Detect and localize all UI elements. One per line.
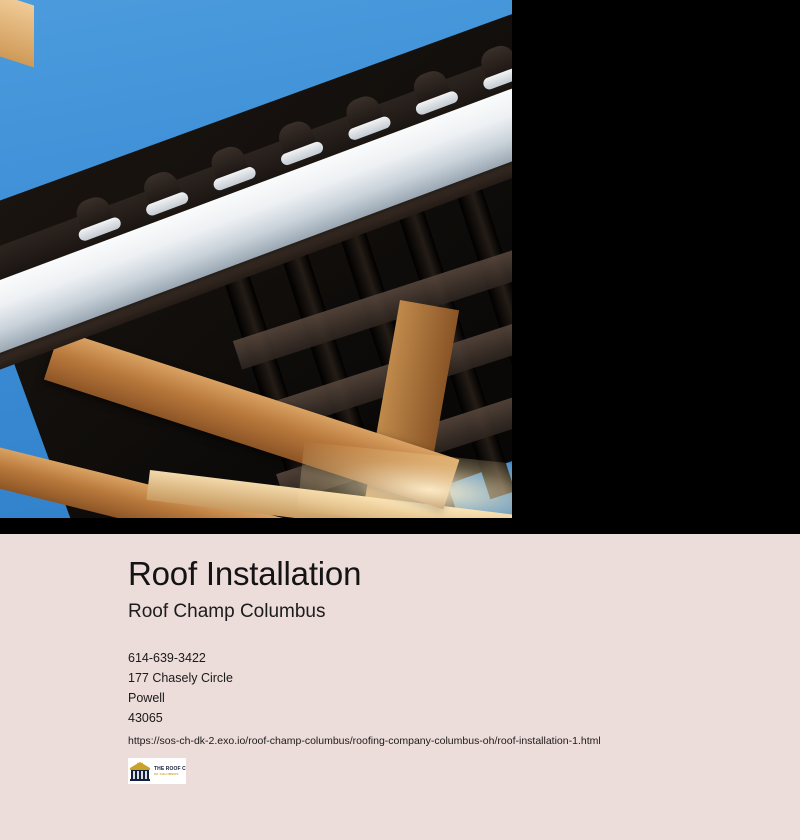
page-url[interactable]: https://sos-ch-dk-2.exo.io/roof-champ-co…: [128, 732, 748, 750]
logo-name: THE ROOF CHAMPION: [154, 767, 186, 772]
contact-details: 614-639-3422 177 Chasely Circle Powell 4…: [128, 648, 748, 750]
postal-code: 43065: [128, 708, 748, 728]
phone-number: 614-639-3422: [128, 648, 748, 668]
crown-house-icon: [128, 759, 152, 783]
wood-beam-end-grain: [0, 0, 34, 68]
business-name: Roof Champ Columbus: [128, 601, 325, 624]
hero-photo: [0, 0, 512, 518]
street-address: 177 Chasely Circle: [128, 668, 748, 688]
page-title: Roof Installation: [128, 556, 361, 593]
brand-logo[interactable]: THE ROOF CHAMPION OF COLUMBUS: [128, 758, 186, 784]
page-root: Roof Installation Roof Champ Columbus 61…: [0, 0, 800, 840]
city: Powell: [128, 688, 748, 708]
hero-band: [0, 0, 800, 534]
logo-wordmark: THE ROOF CHAMPION OF COLUMBUS: [152, 767, 186, 776]
logo-tagline: OF COLUMBUS: [154, 773, 186, 776]
